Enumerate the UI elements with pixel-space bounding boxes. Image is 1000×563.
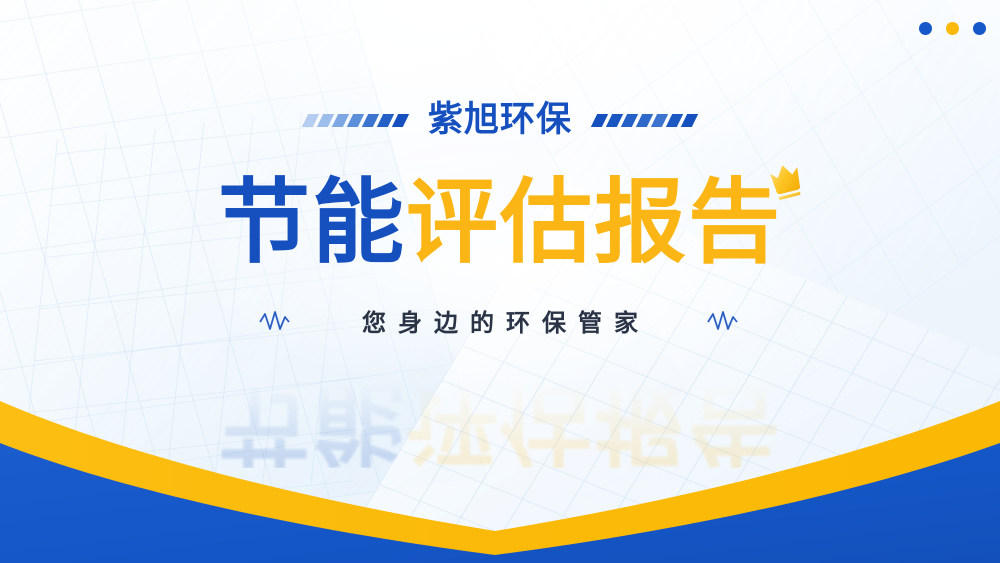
corner-dots-decoration	[919, 22, 986, 35]
bottom-wave-decoration	[0, 303, 1000, 563]
title-segment-blue: 节能	[218, 169, 406, 276]
brand-row: 紫旭环保	[0, 103, 1000, 138]
brand-name: 紫旭环保	[428, 103, 572, 138]
slanted-dashes-icon-right	[594, 114, 695, 127]
title-segment-gold: 评估报告	[406, 169, 782, 276]
dot-yellow	[946, 22, 959, 35]
slanted-dashes-icon-left	[305, 114, 406, 127]
presentation-cover-slide: 紫旭环保 节能评估报告 节能评估报告	[0, 0, 1000, 563]
dot-blue-2	[973, 22, 986, 35]
crown-icon	[764, 158, 810, 202]
dot-blue-1	[919, 22, 932, 35]
page-title: 节能评估报告	[0, 176, 1000, 270]
